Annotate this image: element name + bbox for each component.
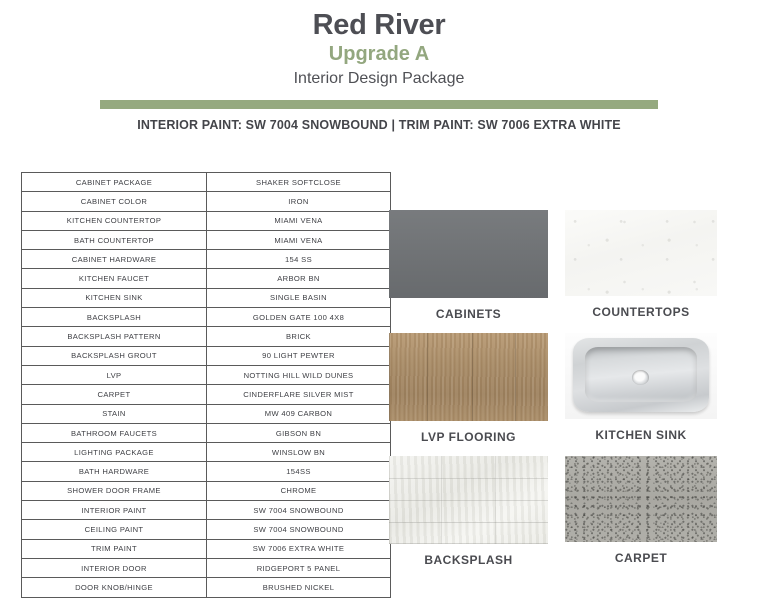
spec-value-cell: WINSLOW BN [207, 443, 391, 462]
table-row: KITCHEN COUNTERTOPMIAMI VENA [22, 211, 391, 230]
spec-value-cell: IRON [207, 192, 391, 211]
page-title: Red River [0, 10, 758, 40]
spec-label-cell: DOOR KNOB/HINGE [22, 578, 207, 597]
spec-label-cell: CABINET COLOR [22, 192, 207, 211]
countertops-swatch-image [565, 210, 717, 296]
carpet-swatch-image [565, 456, 717, 542]
countertops-swatch-label: COUNTERTOPS [565, 305, 717, 319]
page-description: Interior Design Package [0, 70, 758, 88]
cabinets-swatch-image [389, 210, 548, 298]
page-header: Red River Upgrade A Interior Design Pack… [0, 0, 758, 88]
spec-value-cell: SW 7006 EXTRA WHITE [207, 539, 391, 558]
carpet-swatch-label: CARPET [565, 551, 717, 565]
swatch-carpet: CARPET [565, 456, 717, 567]
table-row: LIGHTING PACKAGEWINSLOW BN [22, 443, 391, 462]
table-row: CABINET COLORIRON [22, 192, 391, 211]
table-row: STAINMW 409 CARBON [22, 404, 391, 423]
lvp-flooring-swatch-label: LVP FLOORING [389, 430, 548, 444]
table-row: INTERIOR DOORRIDGEPORT 5 PANEL [22, 558, 391, 577]
spec-label-cell: LIGHTING PACKAGE [22, 443, 207, 462]
spec-label-cell: STAIN [22, 404, 207, 423]
spec-value-cell: 154 SS [207, 250, 391, 269]
spec-label-cell: KITCHEN COUNTERTOP [22, 211, 207, 230]
kitchen-sink-swatch-label: KITCHEN SINK [565, 428, 717, 442]
spec-value-cell: BRUSHED NICKEL [207, 578, 391, 597]
lvp-flooring-swatch-image [389, 333, 548, 421]
specification-table: CABINET PACKAGESHAKER SOFTCLOSECABINET C… [21, 172, 391, 598]
table-row: CABINET PACKAGESHAKER SOFTCLOSE [22, 173, 391, 192]
spec-label-cell: BACKSPLASH [22, 308, 207, 327]
spec-label-cell: BATH HARDWARE [22, 462, 207, 481]
spec-value-cell: 154SS [207, 462, 391, 481]
swatch-row-1: CABINETS COUNTERTOPS [389, 210, 719, 321]
spec-value-cell: CHROME [207, 481, 391, 500]
spec-value-cell: GOLDEN GATE 100 4X8 [207, 308, 391, 327]
spec-label-cell: INTERIOR PAINT [22, 501, 207, 520]
table-row: BACKSPLASHGOLDEN GATE 100 4X8 [22, 308, 391, 327]
table-row: BACKSPLASH PATTERNBRICK [22, 327, 391, 346]
swatch-cabinets: CABINETS [389, 210, 548, 321]
spec-label-cell: BACKSPLASH PATTERN [22, 327, 207, 346]
table-row: INTERIOR PAINTSW 7004 SNOWBOUND [22, 501, 391, 520]
spec-value-cell: BRICK [207, 327, 391, 346]
page-subtitle: Upgrade A [0, 44, 758, 65]
spec-label-cell: TRIM PAINT [22, 539, 207, 558]
table-row: BATHROOM FAUCETSGIBSON BN [22, 423, 391, 442]
spec-label-cell: BATH COUNTERTOP [22, 230, 207, 249]
swatch-row-3: BACKSPLASH CARPET [389, 456, 719, 567]
kitchen-sink-swatch-image [565, 333, 717, 419]
sink-basin-shape [585, 347, 697, 402]
spec-table-body: CABINET PACKAGESHAKER SOFTCLOSECABINET C… [22, 173, 391, 598]
spec-value-cell: SHAKER SOFTCLOSE [207, 173, 391, 192]
spec-value-cell: SINGLE BASIN [207, 288, 391, 307]
spec-label-cell: BATHROOM FAUCETS [22, 423, 207, 442]
spec-value-cell: MIAMI VENA [207, 230, 391, 249]
spec-value-cell: NOTTING HILL WILD DUNES [207, 365, 391, 384]
spec-label-cell: BACKSPLASH GROUT [22, 346, 207, 365]
swatch-backsplash: BACKSPLASH [389, 456, 548, 567]
spec-label-cell: CABINET HARDWARE [22, 250, 207, 269]
spec-value-cell: SW 7004 SNOWBOUND [207, 520, 391, 539]
table-row: SHOWER DOOR FRAMECHROME [22, 481, 391, 500]
spec-value-cell: RIDGEPORT 5 PANEL [207, 558, 391, 577]
spec-value-cell: MIAMI VENA [207, 211, 391, 230]
paint-spec-band: INTERIOR PAINT: SW 7004 SNOWBOUND | TRIM… [0, 118, 758, 132]
table-row: CEILING PAINTSW 7004 SNOWBOUND [22, 520, 391, 539]
swatch-row-2: LVP FLOORING KITCHEN SINK [389, 333, 719, 444]
spec-value-cell: 90 LIGHT PEWTER [207, 346, 391, 365]
spec-label-cell: CARPET [22, 385, 207, 404]
table-row: DOOR KNOB/HINGEBRUSHED NICKEL [22, 578, 391, 597]
spec-label-cell: CEILING PAINT [22, 520, 207, 539]
table-row: KITCHEN SINKSINGLE BASIN [22, 288, 391, 307]
backsplash-swatch-image [389, 456, 548, 544]
table-row: BATH HARDWARE154SS [22, 462, 391, 481]
spec-value-cell: ARBOR BN [207, 269, 391, 288]
swatch-kitchen-sink: KITCHEN SINK [565, 333, 717, 444]
spec-value-cell: CINDERFLARE SILVER MIST [207, 385, 391, 404]
sink-body-shape [573, 338, 710, 412]
backsplash-swatch-label: BACKSPLASH [389, 553, 548, 567]
table-row: CARPETCINDERFLARE SILVER MIST [22, 385, 391, 404]
swatch-lvp-flooring: LVP FLOORING [389, 333, 548, 444]
table-row: TRIM PAINTSW 7006 EXTRA WHITE [22, 539, 391, 558]
spec-label-cell: CABINET PACKAGE [22, 173, 207, 192]
spec-value-cell: MW 409 CARBON [207, 404, 391, 423]
cabinets-swatch-label: CABINETS [389, 307, 548, 321]
spec-label-cell: KITCHEN FAUCET [22, 269, 207, 288]
table-row: KITCHEN FAUCETARBOR BN [22, 269, 391, 288]
spec-label-cell: LVP [22, 365, 207, 384]
spec-label-cell: SHOWER DOOR FRAME [22, 481, 207, 500]
swatch-countertops: COUNTERTOPS [565, 210, 717, 321]
spec-value-cell: GIBSON BN [207, 423, 391, 442]
spec-label-cell: INTERIOR DOOR [22, 558, 207, 577]
spec-label-cell: KITCHEN SINK [22, 288, 207, 307]
spec-value-cell: SW 7004 SNOWBOUND [207, 501, 391, 520]
table-row: BACKSPLASH GROUT90 LIGHT PEWTER [22, 346, 391, 365]
table-row: CABINET HARDWARE154 SS [22, 250, 391, 269]
table-row: LVPNOTTING HILL WILD DUNES [22, 365, 391, 384]
sink-drain-icon [632, 370, 649, 385]
table-row: BATH COUNTERTOPMIAMI VENA [22, 230, 391, 249]
material-swatch-grid: CABINETS COUNTERTOPS LVP FLOORING KITCHE… [389, 210, 719, 579]
green-divider-bar [100, 100, 658, 109]
